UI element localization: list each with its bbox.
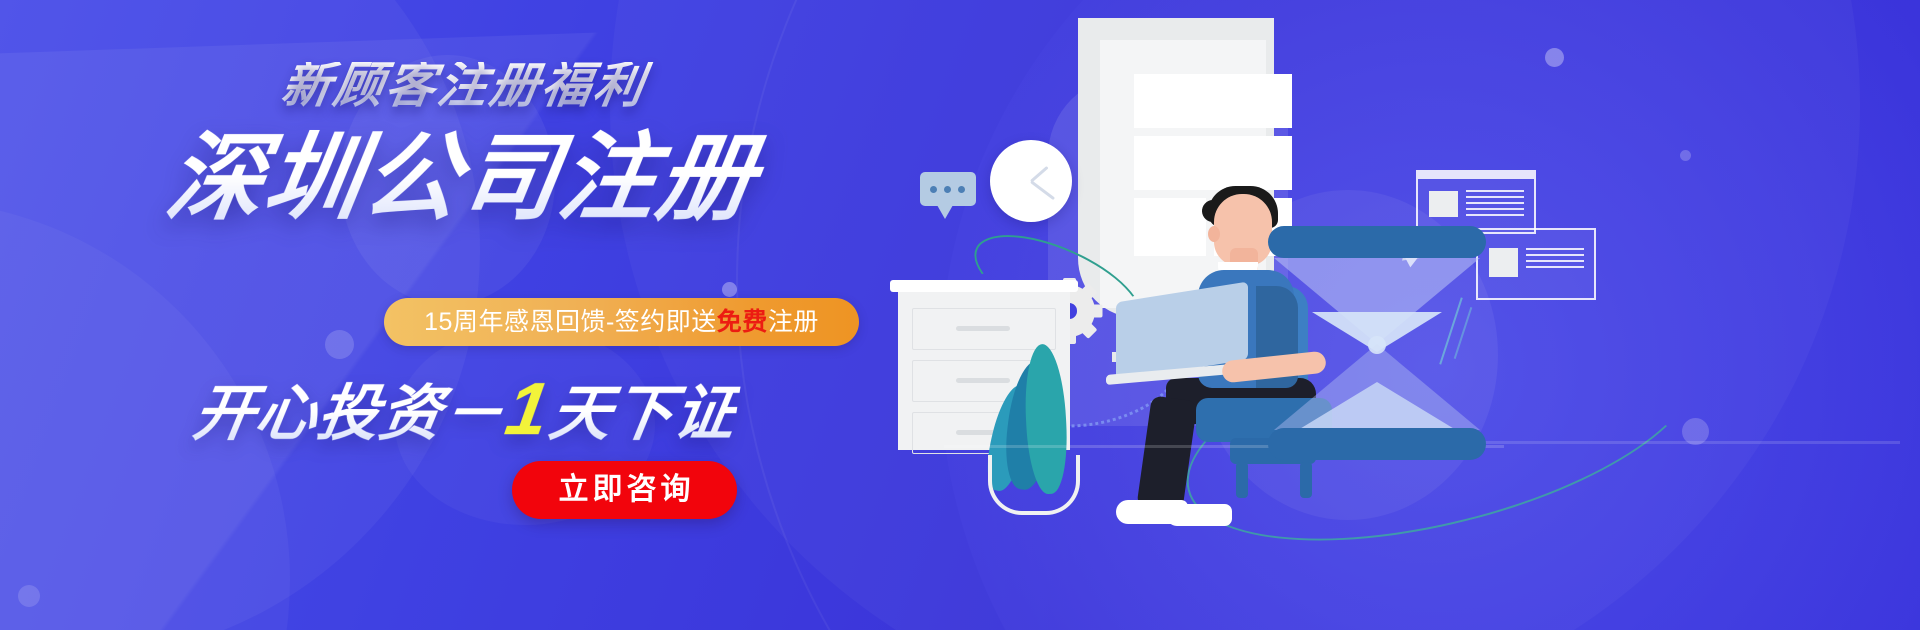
plant-pot <box>988 455 1080 515</box>
chat-dot <box>930 186 937 193</box>
window-pane <box>1134 74 1292 128</box>
banner-illustration <box>930 0 1920 630</box>
card-line <box>1466 208 1524 210</box>
promo-badge: 15周年感恩回馈-签约即送免费注册 <box>384 298 859 346</box>
chat-dot <box>944 186 951 193</box>
clock-icon <box>990 140 1072 222</box>
card-line <box>1466 196 1524 198</box>
cabinet-top <box>890 280 1078 292</box>
cabinet-handle <box>956 326 1010 331</box>
hourglass-icon <box>1268 226 1486 258</box>
hourglass-neck <box>1368 336 1386 354</box>
chat-bubble-icon <box>920 172 976 206</box>
banner-subline: 开心投资－1天下证 <box>0 372 956 446</box>
card-line <box>1466 214 1524 216</box>
hourglass-base <box>1268 428 1486 460</box>
window-pane <box>1134 136 1292 190</box>
consult-now-button[interactable]: 立即咨询 <box>512 461 737 519</box>
promo-badge-prefix: 15周年感恩回馈-签约即送 <box>424 308 717 336</box>
banner-copy-block: 新顾客注册福利 深圳公司注册 15周年感恩回馈-签约即送免费注册 开心投资－1天… <box>0 0 950 630</box>
banner-eyebrow: 新顾客注册福利 <box>0 62 954 111</box>
promo-banner: 新顾客注册福利 深圳公司注册 15周年感恩回馈-签约即送免费注册 开心投资－1天… <box>0 0 1920 630</box>
card-line <box>1526 260 1584 262</box>
card-text-lines <box>1466 190 1524 220</box>
person-ear <box>1208 226 1220 242</box>
clock-minute-hand <box>1030 180 1055 200</box>
subline-tail: 天下证 <box>545 379 742 447</box>
promo-badge-suffix: 注册 <box>768 308 819 336</box>
promo-badge-highlight: 免费 <box>717 308 768 336</box>
banner-headline: 深圳公司注册 <box>0 128 958 230</box>
chair-leg <box>1300 462 1312 498</box>
subline-lead: 开心投资－ <box>189 379 510 447</box>
card-line <box>1526 266 1584 268</box>
consult-now-button-label: 立即咨询 <box>555 475 695 505</box>
chat-dot <box>958 186 965 193</box>
card-line <box>1466 190 1524 192</box>
card-line <box>1526 248 1584 250</box>
card-thumbnail <box>1429 191 1458 217</box>
card-titlebar <box>1418 172 1534 179</box>
card-line <box>1466 202 1524 204</box>
card-text-lines <box>1526 248 1584 272</box>
chair-leg <box>1236 462 1248 498</box>
card-line <box>1526 254 1584 256</box>
person-shoe <box>1166 504 1232 526</box>
hourglass-bottom-sand <box>1298 382 1456 430</box>
document-card-icon <box>1476 228 1596 300</box>
promo-badge-text: 15周年感恩回馈-签约即送免费注册 <box>424 310 819 335</box>
card-thumbnail <box>1489 248 1518 277</box>
cabinet-handle <box>956 378 1010 383</box>
window-pane <box>1134 198 1206 256</box>
